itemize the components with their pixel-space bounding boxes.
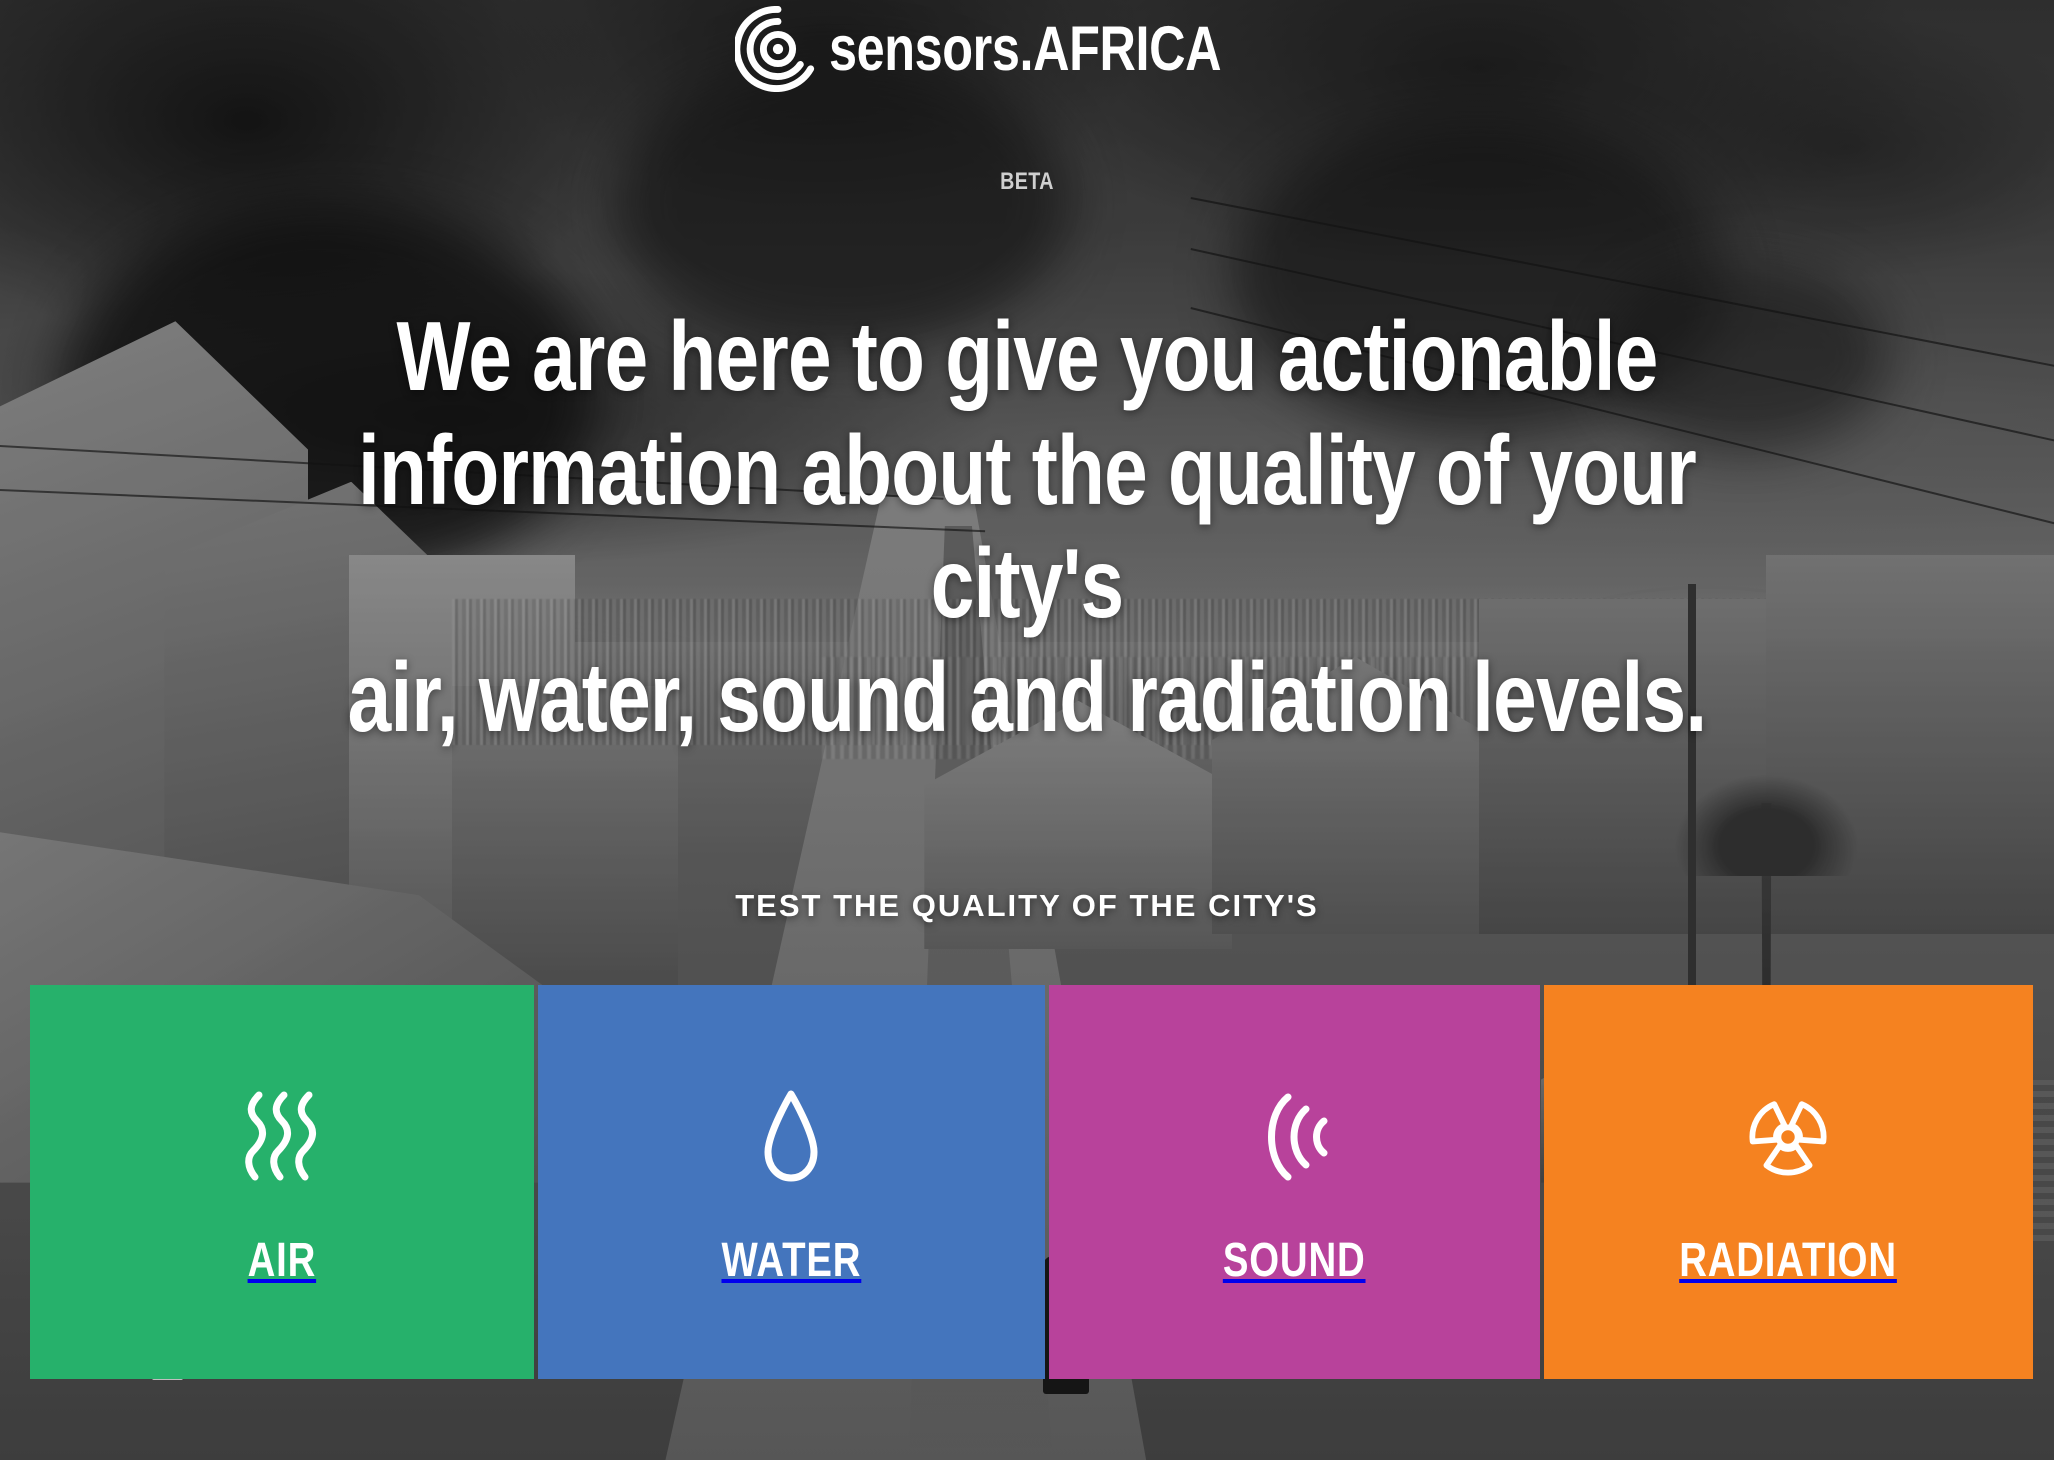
sound-waves-icon [1254, 1085, 1334, 1189]
tile-water-label: WATER [722, 1233, 862, 1288]
radiation-trefoil-icon [1740, 1085, 1836, 1189]
page-headline: We are here to give you actionable infor… [0, 300, 2054, 755]
logo-wordmark-secondary: .AFRICA [1019, 14, 1221, 84]
headline-line-3: air, water, sound and radiation levels. [341, 641, 1712, 755]
headline-line-1: We are here to give you actionable [341, 300, 1712, 414]
site-logo[interactable]: sensors.AFRICA [0, 6, 2054, 92]
landing-page: sensors.AFRICA BETA We are here to give … [0, 0, 2054, 1460]
tile-air-label: AIR [248, 1233, 317, 1288]
headline-line-2: information about the quality of your ci… [341, 414, 1712, 641]
tile-radiation-label: RADIATION [1680, 1233, 1898, 1288]
tile-sound[interactable]: SOUND [1049, 985, 1540, 1379]
logo-wordmark-primary: sensors [829, 14, 1020, 84]
sensor-rings-icon [735, 6, 821, 92]
heat-waves-icon [243, 1085, 321, 1189]
section-subtitle: TEST THE QUALITY OF THE CITY'S [0, 888, 2054, 924]
beta-badge: BETA [185, 168, 1869, 196]
water-drop-icon [760, 1085, 822, 1189]
logo-wordmark: sensors.AFRICA [829, 18, 1221, 81]
tile-air[interactable]: AIR [30, 985, 534, 1379]
category-tiles: AIR WATER SOUND [30, 985, 2033, 1379]
tile-water[interactable]: WATER [538, 985, 1045, 1379]
tile-sound-label: SOUND [1223, 1233, 1366, 1288]
tile-radiation[interactable]: RADIATION [1544, 985, 2033, 1379]
hero-content: sensors.AFRICA BETA We are here to give … [0, 0, 2054, 1460]
